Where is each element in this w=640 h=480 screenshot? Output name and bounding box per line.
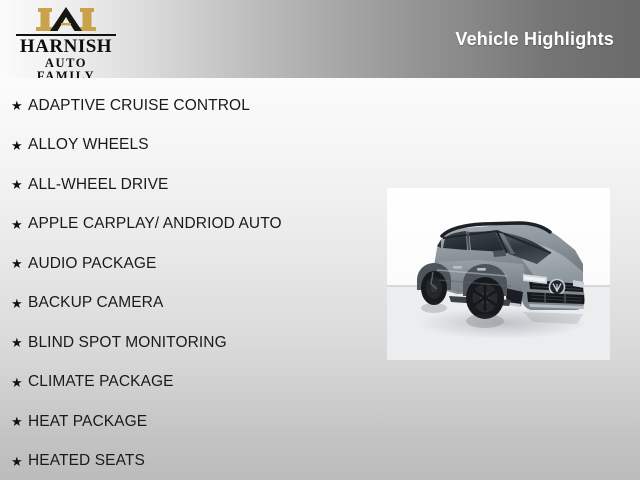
list-item: ★ APPLE CARPLAY/ ANDRIOD AUTO [0,205,380,245]
list-item: ★ ADAPTIVE CRUISE CONTROL [0,86,380,126]
list-item: ★ HEAT PACKAGE [0,402,380,442]
logo-name: HARNISH [14,37,118,57]
star-bullet-icon: ★ [11,218,28,231]
star-bullet-icon: ★ [11,297,28,310]
list-item: ★ AUDIO PACKAGE [0,244,380,284]
harnish-a-monogram-icon [35,6,97,32]
list-item: ★ ALLOY WHEELS [0,126,380,166]
list-item: ★ BLIND SPOT MONITORING [0,323,380,363]
list-item: ★ CLIMATE PACKAGE [0,363,380,403]
star-bullet-icon: ★ [11,139,28,152]
list-item-label: APPLE CARPLAY/ ANDRIOD AUTO [28,215,282,233]
page-header: HARNISH AUTO FAMILY People Matter Vehicl… [0,0,640,78]
list-item-label: ALL-WHEEL DRIVE [28,176,168,194]
star-bullet-icon: ★ [11,376,28,389]
list-item-label: ALLOY WHEELS [28,136,149,154]
logo-subname: AUTO FAMILY [14,57,118,78]
star-bullet-icon: ★ [11,415,28,428]
list-item-label: BLIND SPOT MONITORING [28,334,227,352]
star-bullet-icon: ★ [11,455,28,468]
star-bullet-icon: ★ [11,178,28,191]
list-item: ★ HEATED SEATS [0,442,380,480]
list-item: ★ BACKUP CAMERA [0,284,380,324]
list-item-label: ADAPTIVE CRUISE CONTROL [28,97,250,115]
star-bullet-icon: ★ [11,257,28,270]
vehicle-photo [387,188,610,360]
dealer-logo: HARNISH AUTO FAMILY People Matter [14,6,118,78]
list-item-label: HEAT PACKAGE [28,413,147,431]
vehicle-highlights-list: ★ ADAPTIVE CRUISE CONTROL ★ ALLOY WHEELS… [0,86,380,480]
star-bullet-icon: ★ [11,99,28,112]
list-item-label: AUDIO PACKAGE [28,255,157,273]
list-item: ★ ALL-WHEEL DRIVE [0,165,380,205]
page-title: Vehicle Highlights [455,29,614,50]
list-item-label: HEATED SEATS [28,452,145,470]
list-item-label: CLIMATE PACKAGE [28,373,174,391]
star-bullet-icon: ★ [11,336,28,349]
vehicle-highlights-page: HARNISH AUTO FAMILY People Matter Vehicl… [0,0,640,480]
list-item-label: BACKUP CAMERA [28,294,163,312]
